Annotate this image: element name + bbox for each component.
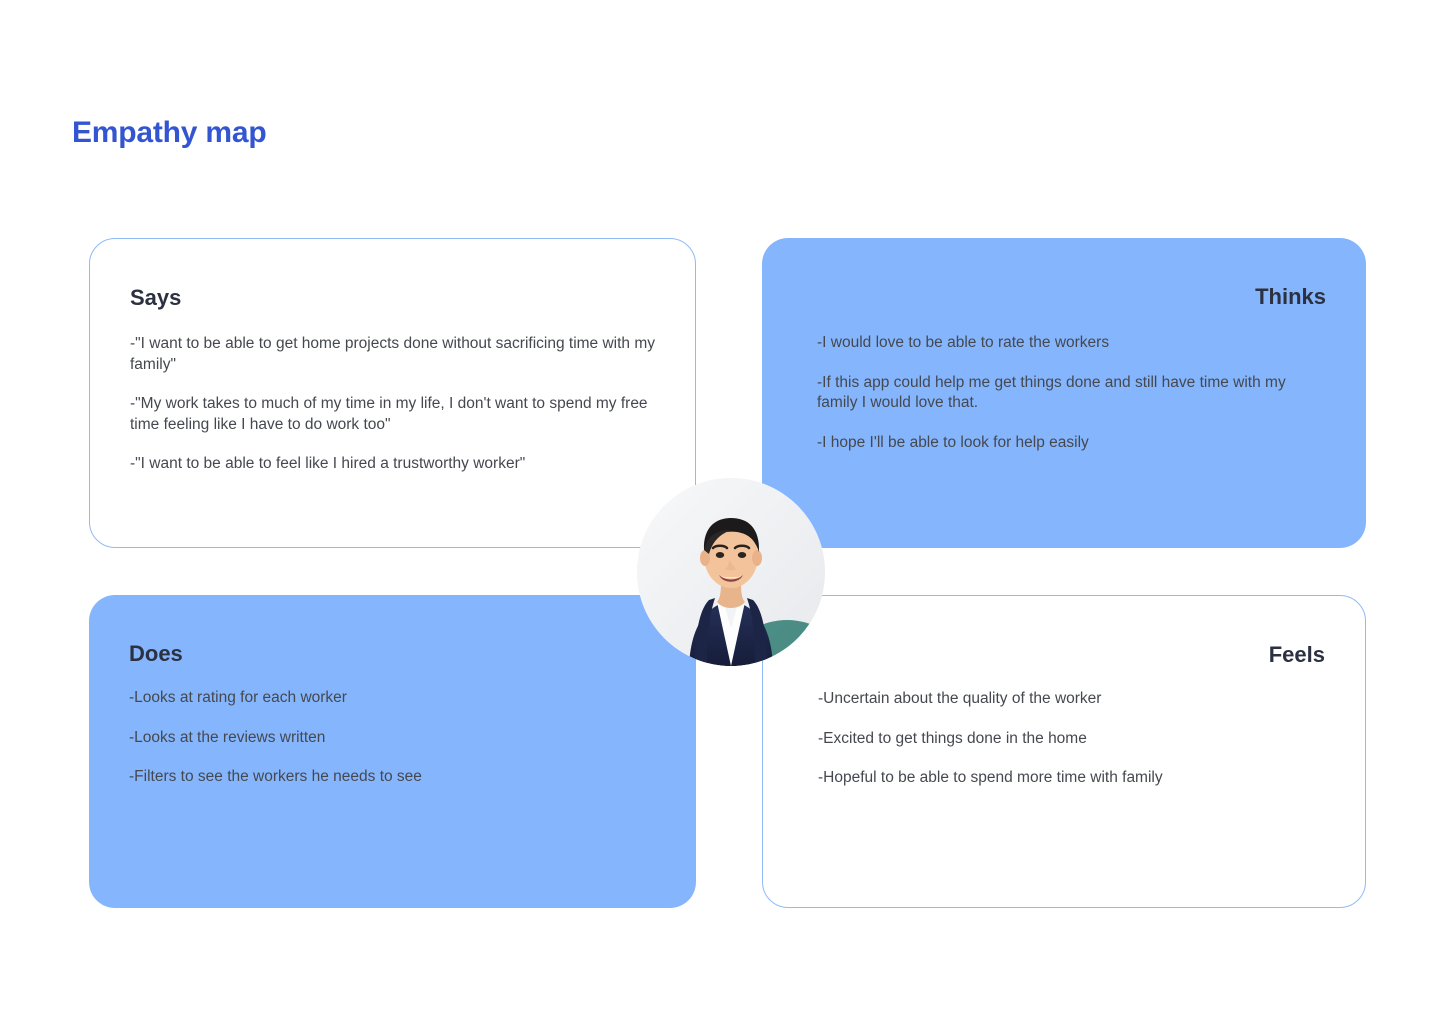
quadrant-says-line: -"I want to be able to get home projects… [130,334,655,375]
quadrant-does-line: -Looks at the reviews written [129,728,656,749]
quadrant-does: Does -Looks at rating for each worker -L… [89,595,696,908]
quadrant-says-line: -"My work takes to much of my time in my… [130,394,655,435]
quadrant-feels-line: -Uncertain about the quality of the work… [818,689,1295,710]
page-title: Empathy map [72,116,267,150]
quadrant-feels-heading: Feels [1269,642,1325,668]
quadrant-does-line: -Filters to see the workers he needs to … [129,767,656,788]
quadrant-does-line: -Looks at rating for each worker [129,688,656,709]
quadrant-thinks: Thinks -I would love to be able to rate … [762,238,1366,548]
quadrant-does-heading: Does [129,641,183,667]
quadrant-says: Says -"I want to be able to get home pro… [89,238,696,548]
quadrant-feels-line: -Hopeful to be able to spend more time w… [818,768,1295,789]
quadrant-does-body: -Looks at rating for each worker -Looks … [129,688,656,788]
quadrant-feels-body: -Uncertain about the quality of the work… [818,689,1295,789]
quadrant-thinks-heading: Thinks [1255,284,1326,310]
quadrant-thinks-line: -I hope I'll be able to look for help ea… [817,433,1296,454]
quadrant-thinks-line: -If this app could help me get things do… [817,373,1296,414]
quadrant-feels-line: -Excited to get things done in the home [818,729,1295,750]
persona-avatar [637,478,825,666]
quadrant-says-line: -"I want to be able to feel like I hired… [130,454,655,475]
quadrant-says-heading: Says [130,285,181,311]
quadrant-says-body: -"I want to be able to get home projects… [130,334,655,475]
quadrant-feels: Feels -Uncertain about the quality of th… [762,595,1366,908]
quadrant-thinks-body: -I would love to be able to rate the wor… [817,333,1296,453]
quadrant-thinks-line: -I would love to be able to rate the wor… [817,333,1296,354]
